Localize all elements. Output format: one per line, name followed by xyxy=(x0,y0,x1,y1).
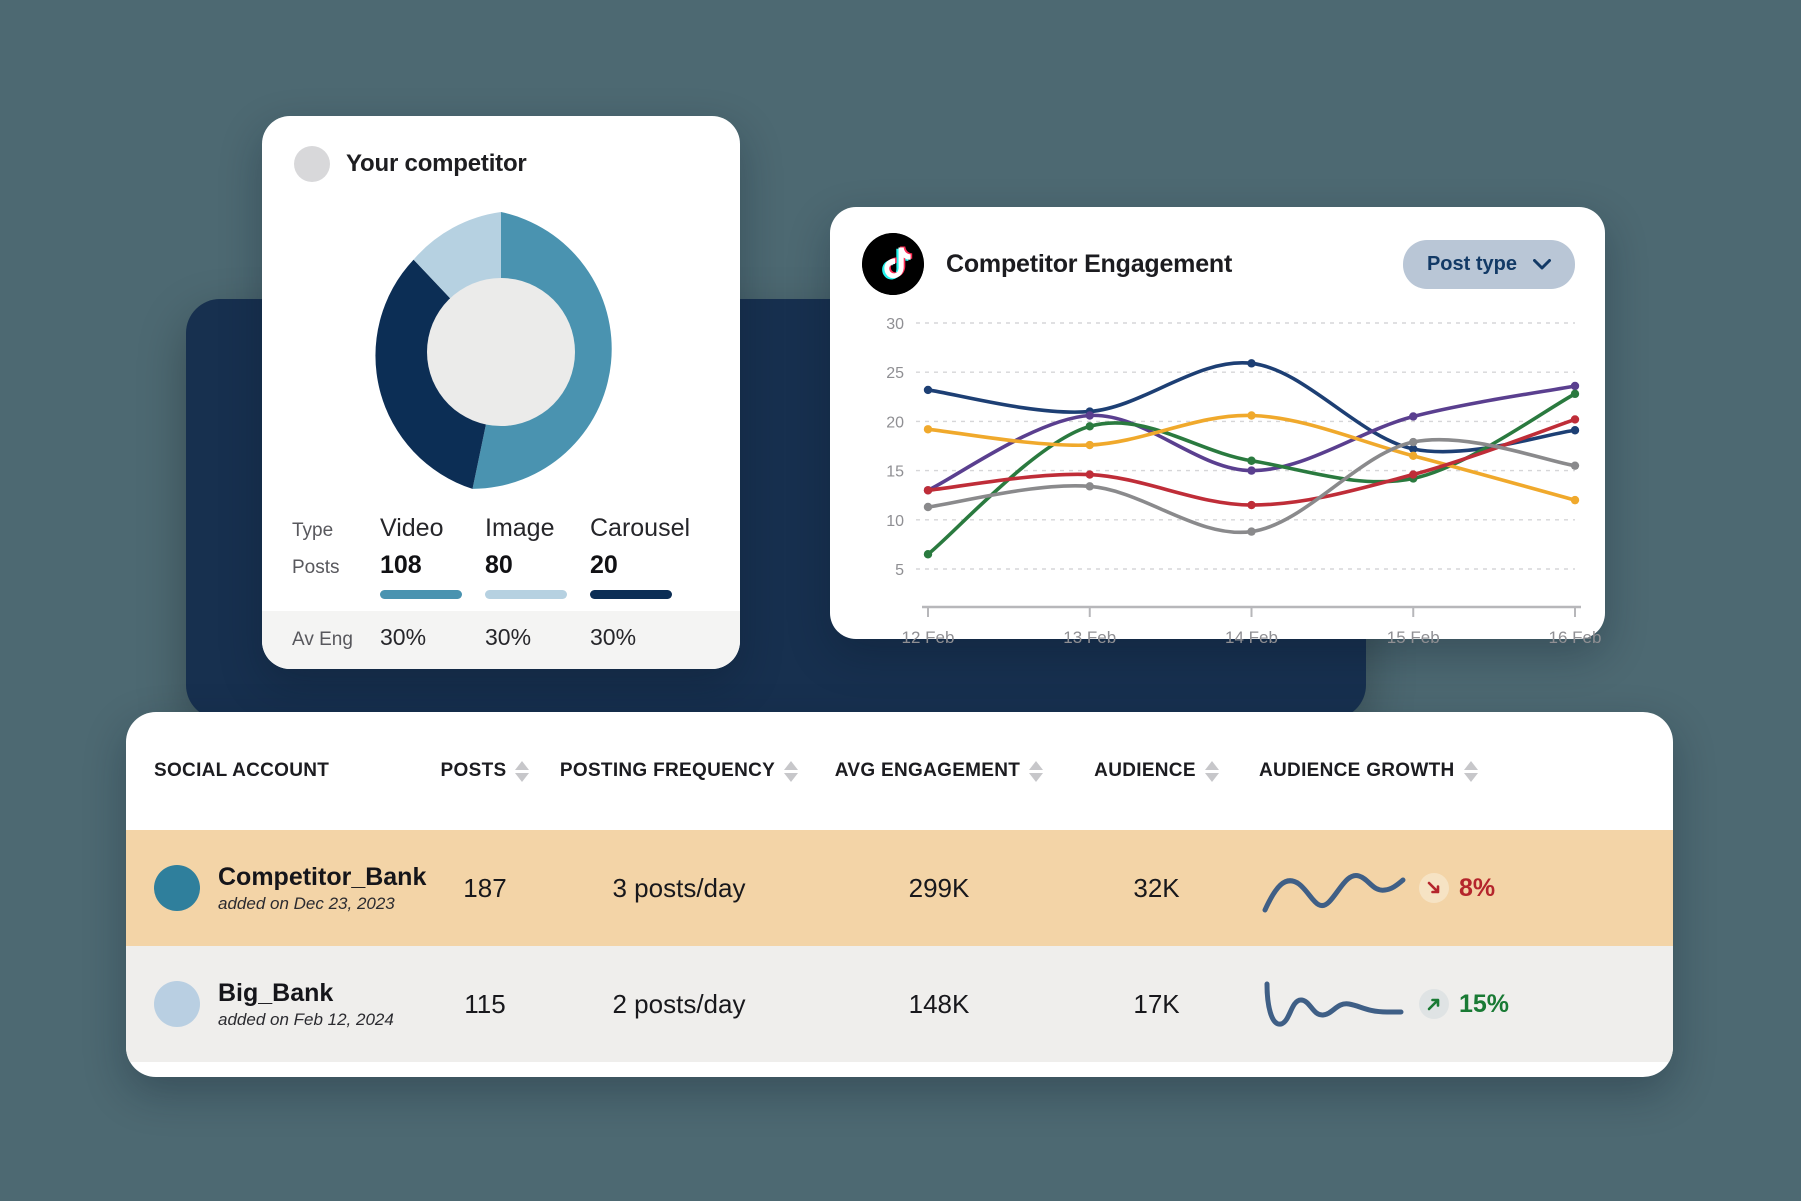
x-axis-tick-label: 14 Feb xyxy=(1225,628,1278,647)
chart-data-point xyxy=(1571,461,1579,469)
y-axis-tick-label: 10 xyxy=(886,513,904,530)
cell-avg-engagement: 299K xyxy=(814,873,1064,904)
legend-label-type: Type xyxy=(292,520,380,542)
sort-icon-audience[interactable] xyxy=(1205,761,1219,782)
avatar xyxy=(154,865,200,911)
legend-bar-carousel xyxy=(590,590,672,599)
legend-row-posts: Posts 108 80 20 xyxy=(292,551,718,580)
growth-percentage: 8% xyxy=(1459,874,1495,903)
chart-data-point xyxy=(1571,426,1579,434)
post-type-filter-label: Post type xyxy=(1427,253,1517,276)
y-axis-tick-label: 15 xyxy=(886,464,904,481)
account-name: Big_Bank xyxy=(218,979,394,1008)
legend-posts-image: 80 xyxy=(485,551,590,580)
chart-data-point xyxy=(1409,452,1417,460)
chart-data-point xyxy=(1086,411,1094,419)
column-header-audience-growth[interactable]: AUDIENCE GROWTH xyxy=(1259,760,1478,782)
post-type-legend: Type Video Image Carousel Posts 108 80 2… xyxy=(262,514,740,669)
sort-icon-posting-frequency[interactable] xyxy=(784,761,798,782)
column-header-audience[interactable]: AUDIENCE xyxy=(1094,760,1219,782)
engagement-chart-title: Competitor Engagement xyxy=(946,250,1232,279)
post-type-donut-chart xyxy=(353,204,649,500)
engagement-card-header: Competitor Engagement Post type xyxy=(830,207,1605,295)
column-header-social-account: SOCIAL ACCOUNT xyxy=(154,760,329,782)
chart-data-point xyxy=(1571,382,1579,390)
legend-bar-image xyxy=(485,590,567,599)
dashboard-root: Your competitor Type Video Image Carouse… xyxy=(0,0,1801,1201)
page-title: Your competitor xyxy=(346,150,527,178)
chart-data-point xyxy=(1571,496,1579,504)
legend-label-av-eng: Av Eng xyxy=(292,629,380,651)
chart-data-point xyxy=(924,425,932,433)
chart-data-point xyxy=(1086,422,1094,430)
chart-data-point xyxy=(1409,470,1417,478)
chart-data-point xyxy=(1571,415,1579,423)
cell-avg-engagement: 148K xyxy=(814,989,1064,1020)
legend-posts-video: 108 xyxy=(380,551,485,580)
post-type-filter-button[interactable]: Post type xyxy=(1403,240,1575,289)
column-header-posts[interactable]: POSTS xyxy=(441,760,530,782)
chart-data-point xyxy=(1247,411,1255,419)
chart-data-point xyxy=(1086,470,1094,478)
chart-data-point xyxy=(1247,457,1255,465)
legend-aveng-video: 30% xyxy=(380,624,485,651)
account-added-date: added on Feb 12, 2024 xyxy=(218,1010,394,1030)
x-axis-tick-label: 13 Feb xyxy=(1063,628,1116,647)
x-axis-tick-label: 15 Feb xyxy=(1387,628,1440,647)
arrow-up-right-icon xyxy=(1419,989,1449,1019)
cell-audience-growth: 8% xyxy=(1249,858,1549,918)
chart-data-point xyxy=(1409,438,1417,446)
competitor-card-header: Your competitor xyxy=(262,116,740,182)
sort-icon-avg-engagement[interactable] xyxy=(1029,761,1043,782)
chart-data-point xyxy=(1086,482,1094,490)
chart-data-point xyxy=(1409,412,1417,420)
column-header-posting-frequency[interactable]: POSTING FREQUENCY xyxy=(560,760,798,782)
account-name: Competitor_Bank xyxy=(218,863,426,892)
chart-line-series xyxy=(928,363,1575,452)
table-header-row: SOCIAL ACCOUNT POSTS POSTING FREQUENCY A… xyxy=(126,712,1673,830)
cell-audience: 32K xyxy=(1064,873,1249,904)
chevron-down-icon xyxy=(1533,253,1551,276)
x-axis-tick-label: 12 Feb xyxy=(902,628,955,647)
legend-row-avg-engagement: Av Eng 30% 30% 30% xyxy=(262,611,740,669)
cell-audience-growth: 15% xyxy=(1249,974,1549,1034)
legend-label-posts: Posts xyxy=(292,557,380,579)
competitor-breakdown-card: Your competitor Type Video Image Carouse… xyxy=(262,116,740,669)
chart-data-point xyxy=(1247,466,1255,474)
legend-aveng-image: 30% xyxy=(485,624,590,651)
cell-posts: 187 xyxy=(426,873,544,904)
sort-icon-posts[interactable] xyxy=(515,761,529,782)
legend-bar-video xyxy=(380,590,462,599)
legend-type-image: Image xyxy=(485,514,590,543)
legend-type-video: Video xyxy=(380,514,485,543)
account-added-date: added on Dec 23, 2023 xyxy=(218,894,426,914)
arrow-down-right-icon xyxy=(1419,873,1449,903)
column-header-avg-engagement[interactable]: AVG ENGAGEMENT xyxy=(835,760,1043,782)
chart-data-point xyxy=(1247,359,1255,367)
chart-data-point xyxy=(924,503,932,511)
chart-data-point xyxy=(924,386,932,394)
x-axis-tick-label: 16 Feb xyxy=(1549,628,1602,647)
donut-center-hole xyxy=(427,278,575,426)
avatar-circle-icon xyxy=(294,146,330,182)
cell-posting-frequency: 3 posts/day xyxy=(544,873,814,904)
competitor-engagement-card: Competitor Engagement Post type 51015202… xyxy=(830,207,1605,639)
chart-data-point xyxy=(1247,527,1255,535)
avatar xyxy=(154,981,200,1027)
y-axis-tick-label: 25 xyxy=(886,365,904,382)
table-row[interactable]: Big_Bank added on Feb 12, 2024 115 2 pos… xyxy=(126,946,1673,1062)
legend-type-carousel: Carousel xyxy=(590,514,710,543)
cell-posting-frequency: 2 posts/day xyxy=(544,989,814,1020)
cell-posts: 115 xyxy=(426,989,544,1020)
sparkline-chart xyxy=(1259,858,1409,918)
sort-icon-audience-growth[interactable] xyxy=(1464,761,1478,782)
table-row[interactable]: Competitor_Bank added on Dec 23, 2023 18… xyxy=(126,830,1673,946)
tiktok-logo-icon xyxy=(862,233,924,295)
legend-color-bars xyxy=(262,580,740,611)
sparkline-chart xyxy=(1259,974,1409,1034)
cell-audience: 17K xyxy=(1064,989,1249,1020)
y-axis-tick-label: 20 xyxy=(886,414,904,431)
y-axis-tick-label: 30 xyxy=(886,316,904,333)
legend-posts-carousel: 20 xyxy=(590,551,710,580)
social-accounts-table-card: SOCIAL ACCOUNT POSTS POSTING FREQUENCY A… xyxy=(126,712,1673,1077)
chart-data-point xyxy=(924,550,932,558)
growth-percentage: 15% xyxy=(1459,990,1509,1019)
engagement-line-chart: 5101520253012 Feb13 Feb14 Feb15 Feb16 Fe… xyxy=(830,301,1605,656)
legend-row-type: Type Video Image Carousel xyxy=(292,514,718,551)
chart-data-point xyxy=(1247,501,1255,509)
chart-data-point xyxy=(924,486,932,494)
y-axis-tick-label: 5 xyxy=(895,562,904,579)
chart-data-point xyxy=(1571,390,1579,398)
chart-data-point xyxy=(1086,441,1094,449)
legend-aveng-carousel: 30% xyxy=(590,624,710,651)
